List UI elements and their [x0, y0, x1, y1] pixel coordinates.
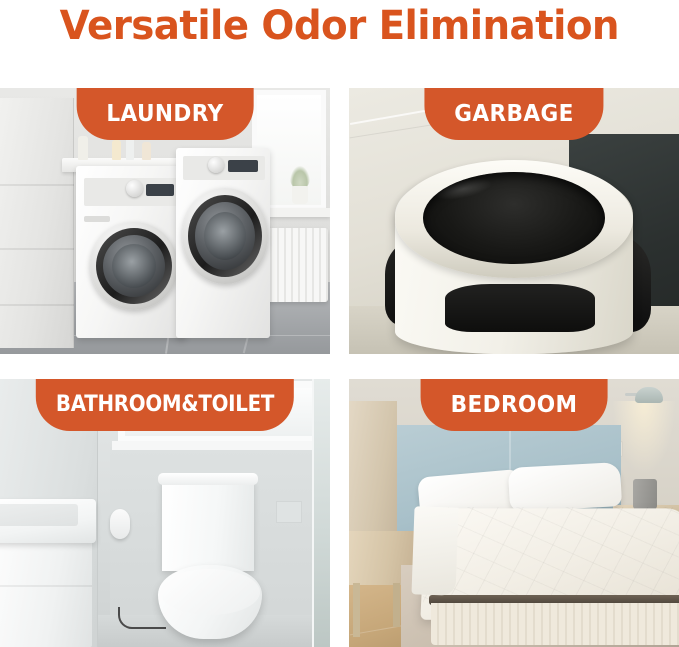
- vanity-seam: [0, 585, 92, 587]
- garbage-bag-fold-front: [445, 284, 595, 332]
- vanity-cabinet: [0, 539, 92, 647]
- washer-dial: [126, 180, 143, 197]
- bidet-hose: [118, 607, 166, 629]
- panel-bathroom[interactable]: BATHROOM&TOILET: [0, 379, 330, 647]
- toilet-paper-holder: [110, 509, 130, 539]
- cylinder-decor: [633, 479, 657, 509]
- plant-pot: [292, 186, 308, 204]
- sink-bowl: [0, 504, 78, 526]
- shower-glass-panel: [312, 379, 330, 647]
- page-title: Versatile Odor Elimination: [60, 3, 619, 49]
- washer-dial: [208, 157, 224, 173]
- cabinet: [0, 98, 74, 348]
- detergent-bottle: [78, 136, 88, 160]
- promo-graphic: Versatile Odor Elimination: [0, 0, 679, 647]
- mattress-side-panel: [431, 603, 679, 645]
- panel-badge-bedroom: BEDROOM: [421, 379, 608, 431]
- wall-lamp-shade: [635, 387, 663, 403]
- pillow: [508, 462, 622, 512]
- draped-sheet: [411, 506, 458, 595]
- washer-drum: [204, 212, 246, 260]
- lamp-glow: [613, 401, 675, 473]
- panel-label: BEDROOM: [451, 379, 578, 431]
- panel-label: GARBAGE: [454, 88, 573, 140]
- toilet-tank: [162, 479, 254, 571]
- cabinet-seam: [0, 248, 74, 250]
- panel-laundry[interactable]: LAUNDRY: [0, 88, 330, 354]
- cabinet-seam: [0, 184, 74, 186]
- window-sill: [112, 441, 330, 450]
- scene-grid: LAUNDRY GARBAGE: [0, 88, 679, 647]
- washer-drawer-handle: [84, 216, 110, 222]
- panel-label: LAUNDRY: [106, 88, 223, 140]
- toilet-tank-lid: [158, 473, 258, 485]
- panel-garbage[interactable]: GARBAGE: [349, 88, 679, 354]
- nightstand-leg: [393, 583, 400, 627]
- panel-badge-laundry: LAUNDRY: [77, 88, 254, 140]
- toilet-seat: [160, 569, 260, 615]
- nightstand-leg: [353, 583, 360, 637]
- panel-bedroom[interactable]: BEDROOM: [349, 379, 679, 647]
- washer-display: [228, 160, 258, 172]
- panel-badge-garbage: GARBAGE: [424, 88, 603, 140]
- washer-display: [146, 184, 174, 196]
- panel-badge-bathroom: BATHROOM&TOILET: [36, 379, 294, 431]
- panel-label: BATHROOM&TOILET: [56, 379, 274, 431]
- washer-drum: [112, 244, 156, 288]
- wall-panel: [276, 501, 302, 523]
- page-title-bar: Versatile Odor Elimination: [0, 0, 679, 88]
- cabinet-seam: [0, 304, 74, 306]
- detergent-bottle: [142, 142, 151, 160]
- detergent-bottle: [112, 140, 121, 160]
